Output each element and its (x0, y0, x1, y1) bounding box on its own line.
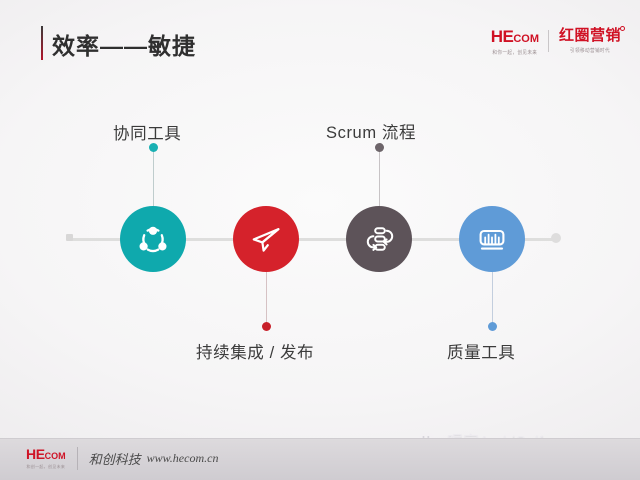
connector-dot-ci-cd (262, 322, 271, 331)
timeline-end-cap-icon (551, 233, 561, 243)
connector-line-scrum (379, 147, 380, 209)
connector-line-collab (153, 147, 154, 209)
node-circle-quality[interactable] (459, 206, 525, 272)
connector-line-quality (492, 272, 493, 327)
connector-dot-scrum (375, 143, 384, 152)
footer-hecom-tagline: 和创一起，创见未来 (26, 464, 66, 470)
agile-timeline-diagram: 协同工具 持续集成 / 发布 (0, 0, 640, 480)
footer-hecom-com: COM (45, 451, 66, 461)
node-label-collab: 协同工具 (113, 120, 181, 144)
connector-dot-collab (149, 143, 158, 152)
paper-plane-icon (246, 219, 286, 259)
node-circle-scrum[interactable] (346, 206, 412, 272)
slide-canvas: 效率——敏捷 HECOM 和你一起，创见未来 红圈营销 引领移动营销时代 (0, 0, 640, 480)
node-label-quality: 质量工具 (447, 339, 515, 363)
node-circle-ci-cd[interactable] (233, 206, 299, 272)
ruler-gauge-icon (472, 219, 512, 259)
footer-divider (77, 447, 78, 470)
share-nodes-icon (133, 219, 173, 259)
workflow-loop-icon (359, 219, 399, 259)
footer-company-name: 和创科技 (89, 449, 141, 468)
slide-footer: HECOM 和创一起，创见未来 和创科技 www.hecom.cn (0, 438, 640, 480)
footer-website-url[interactable]: www.hecom.cn (147, 451, 219, 466)
node-label-scrum: Scrum 流程 (326, 119, 416, 143)
connector-line-ci-cd (266, 272, 267, 327)
footer-hecom-main: HE (26, 446, 45, 462)
timeline-start-cap-icon (66, 234, 73, 241)
connector-dot-quality (488, 322, 497, 331)
footer-brand: HECOM 和创一起，创见未来 和创科技 www.hecom.cn (26, 447, 218, 470)
footer-hecom-logo: HECOM 和创一起，创见未来 (26, 447, 66, 470)
node-label-ci-cd: 持续集成 / 发布 (196, 339, 314, 363)
footer-hecom-wordmark: HECOM (26, 447, 66, 461)
node-circle-collab[interactable] (120, 206, 186, 272)
